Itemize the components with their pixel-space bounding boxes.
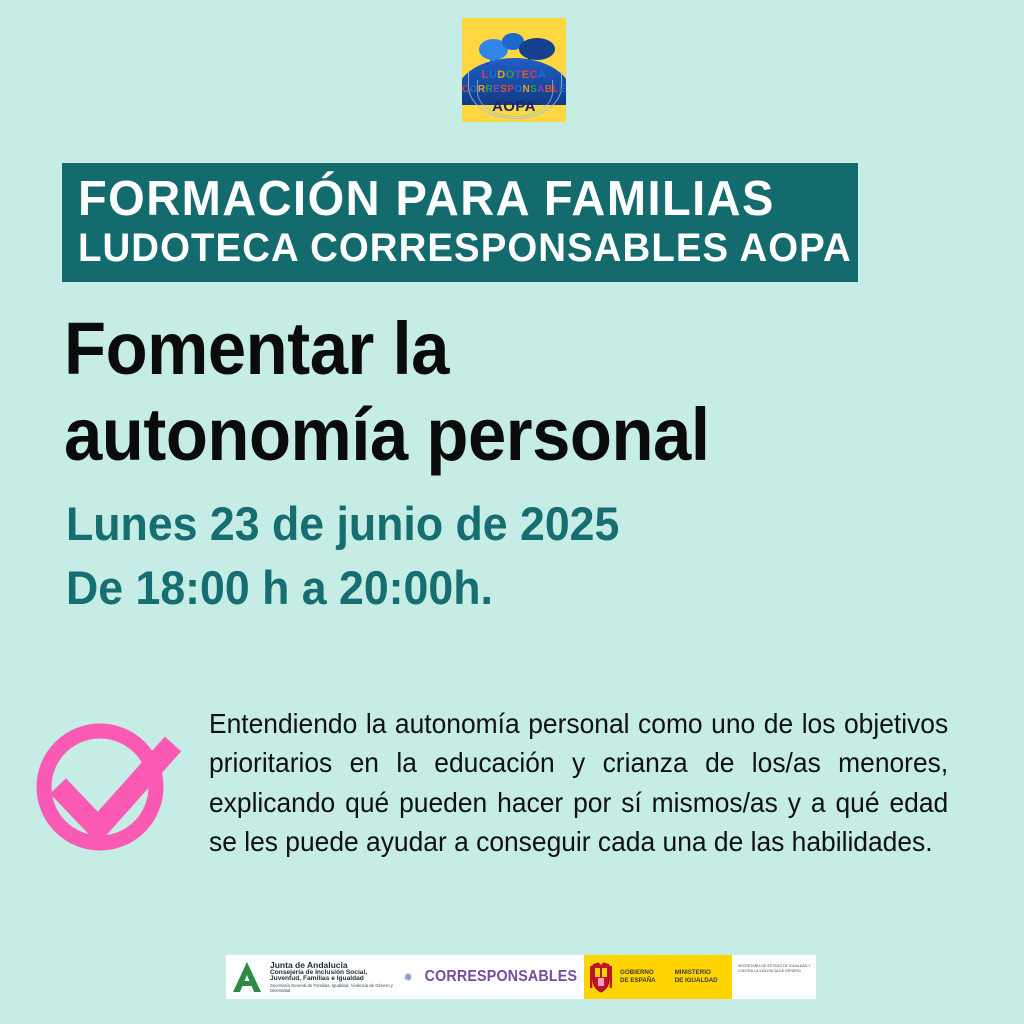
schedule-time: De 18:00 h a 20:00h. [66,556,619,620]
description-paragraph: Entendiendo la autonomía personal como u… [209,704,948,862]
page-title-line-2: autonomía personal [64,392,715,478]
page-title: Fomentar la autonomía personal [64,306,715,478]
logo-container: LUDOTECA CORRESPONSABLES AOPA [462,18,566,122]
corresponsables-label: CORRESPONSABLES [425,968,578,986]
gobierno-labels: GOBIERNO DE ESPAÑA [620,969,656,985]
logo-text-ludoteca: LUDOTECA [462,70,566,81]
gobierno-de-espana-logo: GOBIERNO DE ESPAÑA MINISTERIO DE IGUALDA… [584,955,816,999]
banner-title-primary: FORMACIÓN PARA FAMILIAS [78,174,811,225]
page-title-line-1: Fomentar la [64,306,715,392]
gobierno-small-text: SECRETARÍA DE ESTADO DE IGUALDAD Y CONTR… [732,955,816,999]
ministerio-line-2: DE IGUALDAD [675,977,718,985]
junta-de-andalucia-logo: Junta de Andalucía Consejería de Inclusi… [226,955,404,999]
spain-coat-of-arms-icon [588,961,614,993]
gobierno-line-2: DE ESPAÑA [620,977,656,985]
ministerio-labels: MINISTERIO DE IGUALDAD [675,969,718,985]
schedule-date: Lunes 23 de junio de 2025 [66,492,619,556]
gobierno-line-1: GOBIERNO [620,969,656,977]
starburst-icon [404,962,412,992]
junta-small-text: Secretaría General de Familias, Igualdad… [270,984,398,993]
junta-subtitle: Consejería de Inclusión Social, Juventud… [270,970,398,984]
ministerio-line-1: MINISTERIO [675,969,718,977]
banner-title-secondary: LUDOTECA CORRESPONSABLES AOPA [78,227,811,270]
logo-card: LUDOTECA CORRESPONSABLES AOPA [462,18,566,122]
check-circle-icon [30,700,185,860]
corresponsables-logo: CORRESPONSABLES [404,955,584,999]
logo-text-corresponsables: CORRESPONSABLES [462,85,566,95]
footer-logo-strip: Junta de Andalucía Consejería de Inclusi… [226,955,816,999]
gobierno-yellow-panel: GOBIERNO DE ESPAÑA MINISTERIO DE IGUALDA… [584,955,732,999]
andalucia-a-icon [230,960,266,994]
tree-icon-right [519,38,554,60]
title-banner: FORMACIÓN PARA FAMILIAS LUDOTECA CORRESP… [62,163,858,282]
schedule-block: Lunes 23 de junio de 2025 De 18:00 h a 2… [66,492,619,620]
junta-text-block: Junta de Andalucía Consejería de Inclusi… [270,961,398,994]
logo-text-aopa: AOPA [462,99,566,114]
